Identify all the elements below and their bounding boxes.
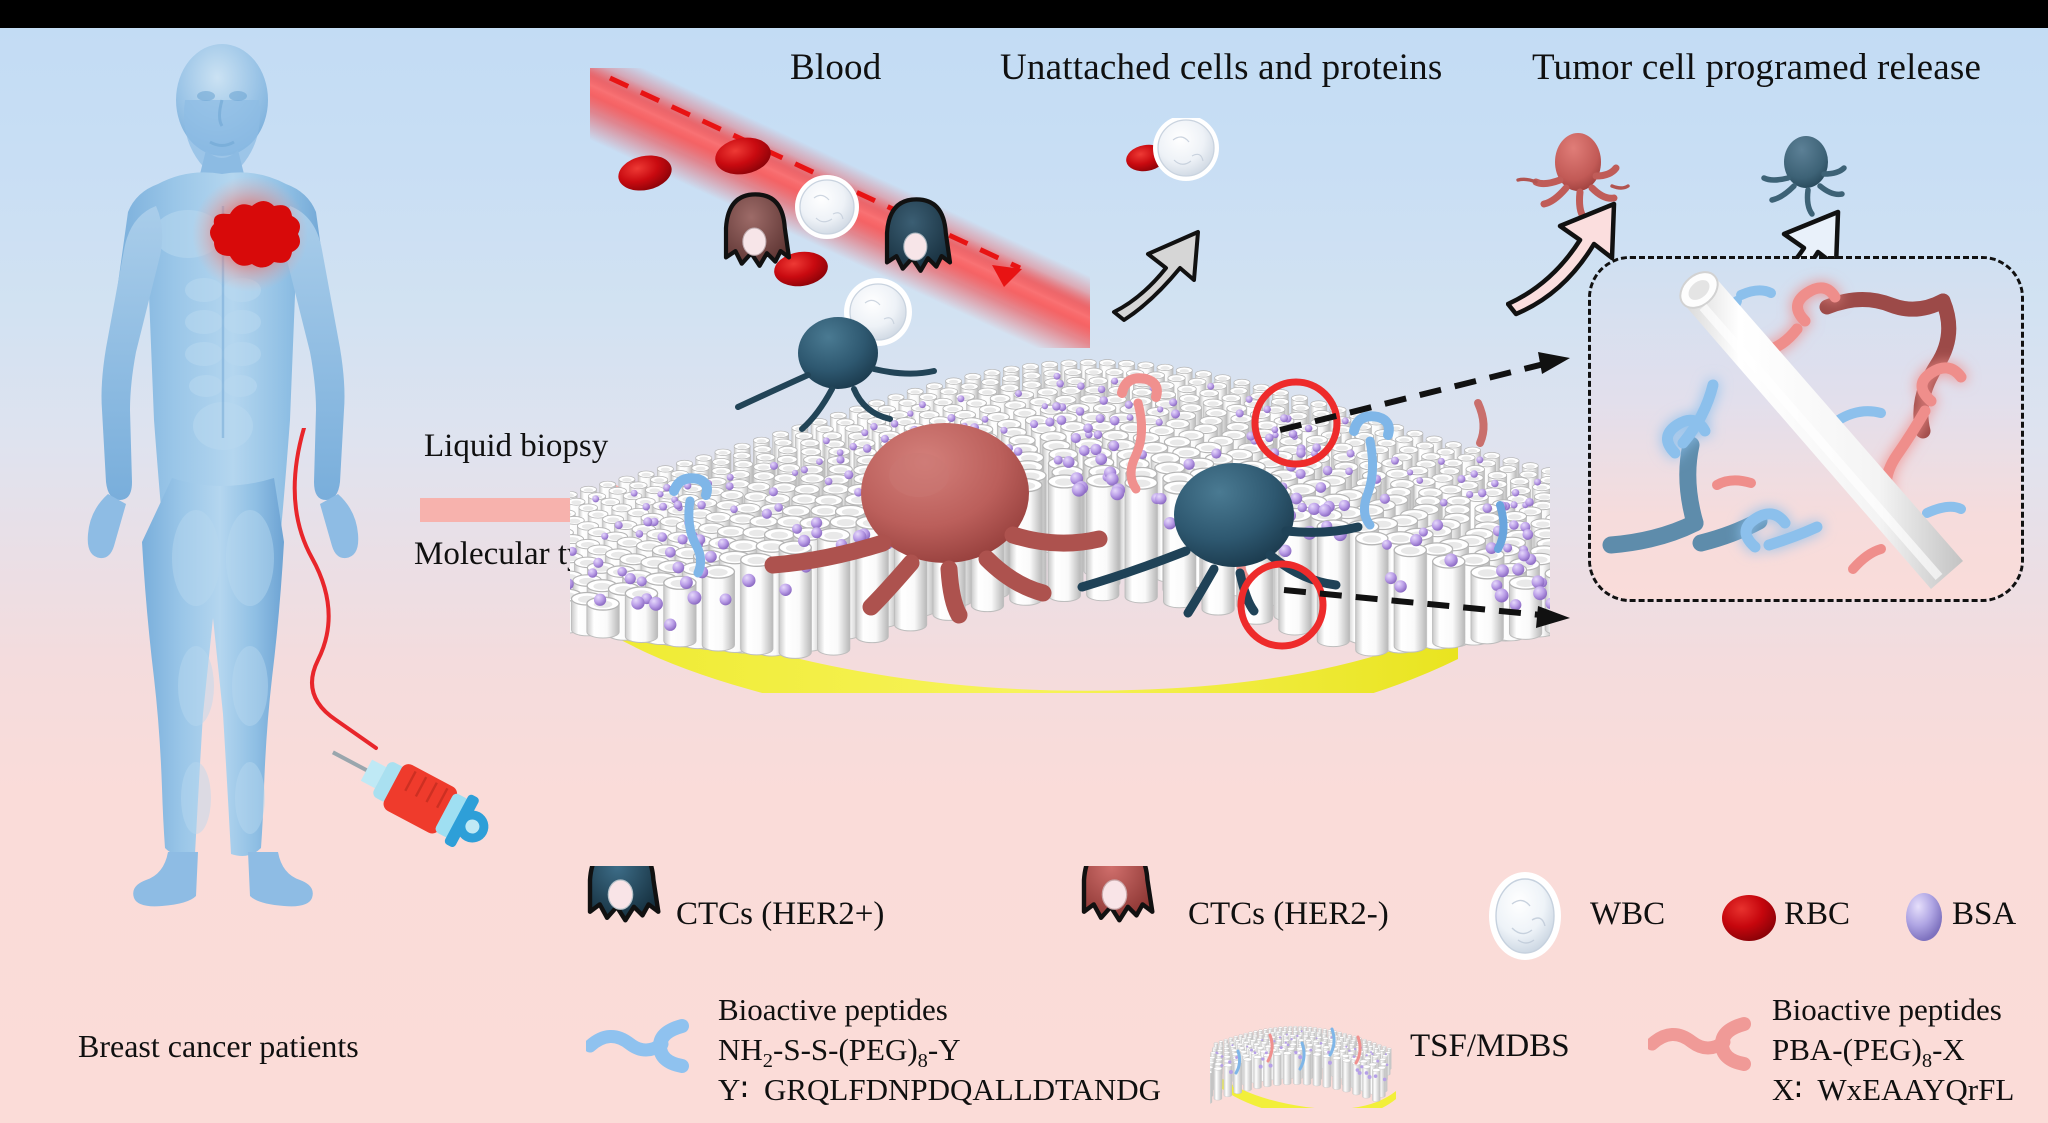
bsa-bead xyxy=(1330,1036,1332,1038)
legend-blue-peptide-sequence: Y∶ GRQLFDNPDQALLDTANDG xyxy=(718,1070,1161,1111)
bsa-bead xyxy=(792,470,798,476)
legend-red-peptide-line1: Bioactive peptides xyxy=(1772,990,2002,1031)
bsa-bead xyxy=(1296,1035,1298,1037)
bsa-bead xyxy=(1290,1038,1292,1040)
bsa-bead xyxy=(1090,444,1101,455)
formula-sub2: 8 xyxy=(918,1050,928,1072)
bsa-bead xyxy=(1045,418,1054,427)
bsa-bead xyxy=(631,596,644,609)
bsa-bead xyxy=(1042,403,1048,409)
bsa-bead xyxy=(1030,420,1038,428)
legend-label-bsa: BSA xyxy=(1952,896,2016,933)
bsa-bead xyxy=(1353,1055,1356,1058)
bsa-bead xyxy=(779,584,791,596)
label-breast-cancer-patients: Breast cancer patients xyxy=(78,1028,359,1065)
nanotube xyxy=(1353,1063,1361,1095)
bsa-bead xyxy=(1345,1046,1347,1048)
bsa-bead xyxy=(1171,409,1180,418)
bsa-bead xyxy=(601,533,608,540)
label-tumor-release: Tumor cell programed release xyxy=(1532,46,1981,89)
bsa-bead xyxy=(1207,383,1214,390)
bsa-bead xyxy=(718,538,729,549)
bsa-bead xyxy=(1259,1065,1263,1069)
nanotube xyxy=(1254,1057,1262,1089)
legend-label-wbc: WBC xyxy=(1590,896,1665,933)
bsa-bead xyxy=(1328,1061,1332,1065)
bsa-bead xyxy=(672,562,684,574)
bsa-bead xyxy=(678,534,688,544)
formula-sub1: 2 xyxy=(763,1050,773,1072)
formula-sub1: 8 xyxy=(1922,1050,1932,1072)
formula-post: -Y xyxy=(928,1032,961,1067)
bsa-bead xyxy=(774,503,783,512)
bsa-bead xyxy=(1374,1074,1378,1078)
body-head xyxy=(176,44,268,178)
nanotube-zoom-inset xyxy=(1588,256,2024,602)
bsa-bead xyxy=(588,568,598,578)
bsa-bead xyxy=(1096,414,1105,423)
nanotube xyxy=(1273,1054,1281,1086)
bsa-bead xyxy=(1279,1036,1281,1038)
bsa-bead xyxy=(637,576,647,586)
bsa-bead xyxy=(615,521,623,529)
bsa-bead xyxy=(664,619,676,631)
wbc-cell xyxy=(1153,118,1219,181)
bsa-bead xyxy=(680,576,693,589)
bsa-bead xyxy=(1015,390,1022,397)
bsa-bead xyxy=(657,491,663,497)
bsa-bead xyxy=(849,443,856,450)
bsa-bead xyxy=(592,495,599,502)
bsa-bead xyxy=(1125,401,1133,409)
bsa-bead xyxy=(625,573,636,584)
legend-label-rbc: RBC xyxy=(1784,896,1850,933)
bsa-bead xyxy=(1077,382,1084,389)
bsa-bead xyxy=(1127,414,1134,421)
bsa-bead xyxy=(1254,1051,1257,1054)
bsa-bead xyxy=(1370,1051,1372,1053)
blood-draw-tube xyxy=(270,428,530,758)
bsa-bead xyxy=(697,501,706,510)
bsa-bead xyxy=(720,593,732,605)
nanotube xyxy=(1283,1053,1291,1085)
bsa-bead xyxy=(1079,445,1090,456)
legend-label-ctc-her2-positive: CTCs (HER2+) xyxy=(676,896,884,933)
bsa-bead xyxy=(919,401,926,408)
legend-icon-red-peptide xyxy=(1648,1010,1778,1080)
bsa-bead xyxy=(1285,1042,1287,1044)
bsa-bead xyxy=(844,470,853,479)
bsa-bead xyxy=(642,503,649,510)
bsa-bead xyxy=(1348,1049,1350,1051)
nanotube xyxy=(1333,1058,1341,1090)
bsa-bead xyxy=(1309,1049,1312,1052)
ctc-her2-positive-cell xyxy=(887,199,950,270)
legend-icon-blue-peptide xyxy=(586,1010,716,1080)
bsa-bead xyxy=(1110,416,1120,426)
bsa-bead xyxy=(1231,1044,1233,1046)
bsa-bead xyxy=(1157,406,1163,412)
bsa-bead xyxy=(657,532,667,542)
bsa-bead xyxy=(1156,419,1163,426)
nanotube xyxy=(1224,1065,1232,1097)
bsa-bead xyxy=(1109,440,1120,451)
bsa-bead xyxy=(1358,1071,1362,1075)
bsa-bead xyxy=(1269,1064,1273,1068)
bsa-bead xyxy=(1371,1053,1373,1055)
bsa-bead xyxy=(726,482,734,490)
nanotube xyxy=(1244,1059,1252,1091)
bsa-bead xyxy=(1211,448,1221,458)
bsa-bead xyxy=(863,444,872,453)
bsa-bead xyxy=(770,462,778,470)
bsa-bead xyxy=(1095,453,1107,465)
bsa-bead xyxy=(1235,1056,1238,1059)
bsa-bead xyxy=(1383,1078,1387,1082)
bsa-bead xyxy=(1298,1055,1302,1059)
bsa-bead xyxy=(1250,1049,1253,1052)
bsa-bead xyxy=(1354,1048,1356,1050)
legend-icon-tsf-mdbs xyxy=(1210,1003,1400,1108)
bsa-bead xyxy=(861,429,868,436)
bsa-bead xyxy=(1220,1064,1223,1067)
formula-pre: PBA-(PEG) xyxy=(1772,1032,1922,1067)
bsa-bead xyxy=(649,597,663,611)
bsa-bead xyxy=(837,456,845,464)
bsa-bead xyxy=(1111,378,1118,385)
bsa-bead xyxy=(1052,402,1061,411)
tumor-marker xyxy=(192,176,308,292)
bsa-bead xyxy=(730,505,738,513)
bsa-bead xyxy=(1280,1046,1283,1049)
bsa-bead xyxy=(792,524,802,534)
bsa-bead xyxy=(636,530,644,538)
bsa-bead xyxy=(742,574,755,587)
formula-mid: -S-S-(PEG) xyxy=(773,1032,918,1067)
nanotube xyxy=(1210,1072,1212,1104)
bsa-bead xyxy=(705,551,717,563)
bsa-bead xyxy=(1076,407,1085,416)
bsa-bead xyxy=(1054,373,1061,380)
bsa-bead xyxy=(1316,1037,1318,1039)
bsa-bead xyxy=(1320,1042,1323,1045)
bsa-bead xyxy=(1155,493,1166,504)
bsa-bead xyxy=(643,517,652,526)
bsa-bead xyxy=(1246,1046,1248,1048)
bsa-bead xyxy=(1385,1053,1387,1055)
bsa-bead xyxy=(1099,396,1108,405)
bsa-bead xyxy=(1221,1055,1224,1058)
bsa-bead xyxy=(1054,456,1063,465)
bsa-bead xyxy=(798,535,810,547)
bsa-bead xyxy=(1229,1070,1233,1074)
bsa-bead xyxy=(631,490,638,497)
bsa-bead xyxy=(674,501,683,510)
bsa-bead xyxy=(947,414,955,422)
bsa-bead xyxy=(1072,483,1086,497)
bsa-bead xyxy=(1094,430,1103,439)
bsa-bead xyxy=(1215,1052,1217,1054)
wbc-cell xyxy=(795,175,859,239)
bsa-bead xyxy=(1000,427,1007,434)
nanotube xyxy=(1323,1056,1331,1088)
legend-icon-bsa xyxy=(1898,886,1952,948)
her2-positive-receptor-chain xyxy=(1611,445,1759,545)
formula-post: -X xyxy=(1932,1032,1965,1067)
bsa-bead xyxy=(870,423,877,430)
legend-label-tsf-mdbs: TSF/MDBS xyxy=(1410,1028,1570,1065)
bsa-bead xyxy=(1360,1065,1363,1068)
bsa-bead xyxy=(957,395,964,402)
legend-blue-peptide-formula: NH2-S-S-(PEG)8-Y xyxy=(718,1030,961,1075)
bsa-bead xyxy=(811,527,822,538)
bsa-bead xyxy=(1368,1075,1372,1079)
bsa-bead xyxy=(769,487,778,496)
tumor-cell-blue-released xyxy=(1764,136,1844,214)
bsa-bead xyxy=(762,509,772,519)
bsa-bead xyxy=(816,458,823,465)
bsa-bead xyxy=(811,517,822,528)
legend-icon-rbc xyxy=(1718,890,1782,946)
nanotube xyxy=(702,572,734,651)
nanotube xyxy=(741,560,773,655)
bsa-bead xyxy=(1287,1044,1290,1047)
bsa-bead xyxy=(1063,456,1075,468)
inset-connector-arrows xyxy=(1270,348,1610,648)
bsa-bead xyxy=(594,594,606,606)
legend-red-peptide-formula: PBA-(PEG)8-X xyxy=(1772,1030,1965,1075)
label-blood: Blood xyxy=(790,46,881,89)
bsa-bead xyxy=(1365,1071,1369,1075)
nanotube xyxy=(1343,1061,1351,1093)
legend-icon-ctc-her2-negative xyxy=(1072,866,1172,966)
bsa-bead xyxy=(659,503,667,511)
label-unattached-cells: Unattached cells and proteins xyxy=(1000,46,1442,89)
bsa-bead xyxy=(1056,380,1063,387)
nanotube xyxy=(1313,1054,1321,1086)
bsa-bead xyxy=(1236,409,1244,417)
bsa-bead xyxy=(1265,1051,1268,1054)
bsa-bead xyxy=(1083,423,1093,433)
bsa-bead xyxy=(1183,459,1194,470)
bsa-bead xyxy=(1098,386,1105,393)
bsa-bead xyxy=(1376,1060,1379,1063)
bsa-bead xyxy=(1071,433,1081,443)
legend-icon-wbc xyxy=(1480,868,1570,964)
legend-blue-peptide-line1: Bioactive peptides xyxy=(718,990,948,1031)
figure-root: Blood Unattached cells and proteins Tumo… xyxy=(0,0,2048,1123)
legend-label-ctc-her2-negative: CTCs (HER2-) xyxy=(1188,896,1389,933)
bsa-bead xyxy=(823,437,830,444)
bsa-bead xyxy=(1286,1034,1288,1036)
bsa-bead xyxy=(825,478,833,486)
bsa-bead xyxy=(1261,1039,1263,1041)
bsa-bead xyxy=(1110,486,1124,500)
bsa-bead xyxy=(727,474,734,481)
bsa-bead xyxy=(1301,1030,1303,1032)
bsa-bead xyxy=(837,449,844,456)
bsa-bead xyxy=(1228,1060,1231,1063)
bsa-bead xyxy=(593,558,603,568)
bsa-bead xyxy=(1246,396,1253,403)
bsa-bead xyxy=(1057,415,1067,425)
bsa-bead xyxy=(881,435,889,443)
ctc-her2-negative-cell xyxy=(726,194,789,265)
nanotube xyxy=(1214,1069,1222,1101)
bsa-bead xyxy=(1366,1054,1368,1056)
bsa-bead xyxy=(1273,1040,1275,1042)
formula-pre: NH xyxy=(718,1032,763,1067)
bsa-bead xyxy=(1294,1051,1297,1054)
legend-icon-ctc-her2-positive xyxy=(578,866,678,966)
bsa-bead xyxy=(1169,398,1177,406)
legend-red-peptide-sequence: X∶ WxEAAYQrFL xyxy=(1772,1070,2014,1111)
bsa-bead xyxy=(1261,1057,1264,1060)
figure-canvas: Blood Unattached cells and proteins Tumo… xyxy=(0,28,2048,1123)
bsa-bead xyxy=(801,466,808,473)
bsa-bead xyxy=(982,416,989,423)
syringe-icon xyxy=(300,718,500,858)
bsa-bead xyxy=(617,567,627,577)
bsa-bead xyxy=(687,591,701,605)
bsa-bead xyxy=(907,411,913,417)
bsa-bead xyxy=(1386,1063,1389,1066)
bsa-bead xyxy=(665,547,676,558)
